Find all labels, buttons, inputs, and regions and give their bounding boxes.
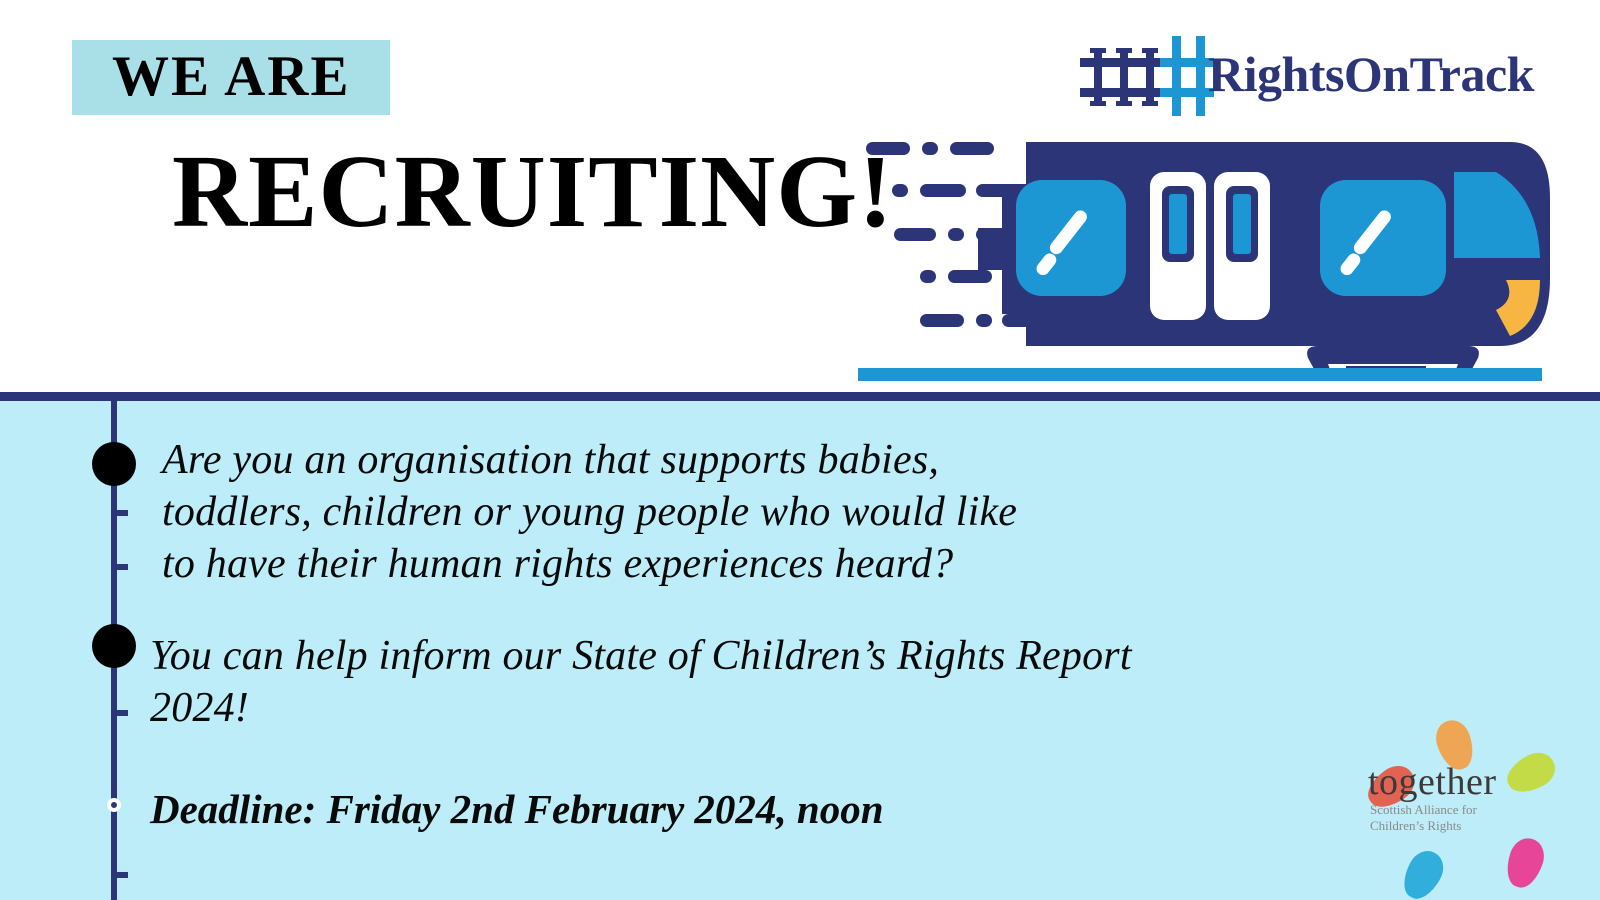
page-title: RECRUITING!	[172, 132, 894, 251]
fingerprint-pink	[1501, 834, 1549, 892]
train-rail-bar	[858, 368, 1542, 381]
headline-small: WE ARE	[112, 44, 392, 110]
fingerprint-blue	[1396, 845, 1449, 900]
timeline-tick	[117, 564, 128, 570]
brand-name: RightsOnTrack	[1208, 45, 1534, 103]
section-divider	[0, 392, 1600, 401]
brand-logo[interactable]: RightsOnTrack	[1076, 30, 1546, 120]
bullet-item-1: Are you an organisation that supports ba…	[162, 434, 1017, 590]
timeline-bullet-dot	[92, 442, 136, 486]
railway-track-icon	[1076, 30, 1216, 120]
fingerprint-lime	[1501, 746, 1561, 799]
timeline-station-marker	[107, 798, 121, 812]
together-logo[interactable]: together Scottish Alliance for Children’…	[1318, 700, 1598, 900]
poster: WE ARE RECRUITING!	[0, 0, 1600, 900]
together-tagline: Scottish Alliance for Children’s Rights	[1370, 802, 1477, 834]
timeline-tick	[117, 710, 128, 716]
speeding-train-illustration	[850, 128, 1560, 390]
timeline-track	[105, 392, 145, 900]
timeline-tick	[117, 872, 128, 878]
bullet-item-2: You can help inform our State of Childre…	[150, 630, 1132, 734]
together-wordmark: together	[1368, 760, 1497, 804]
timeline-bullet-dot	[92, 624, 136, 668]
deadline-text: Deadline: Friday 2nd February 2024, noon	[150, 784, 884, 834]
timeline-tick	[117, 510, 128, 516]
